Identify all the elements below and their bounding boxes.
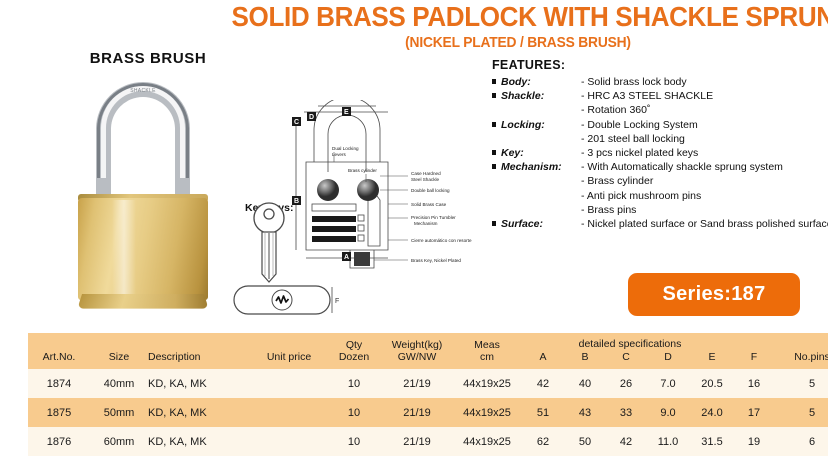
- feature-label: Mechanism:: [501, 160, 581, 174]
- series-badge: Series:187: [628, 273, 800, 316]
- feature-label: Locking:: [501, 118, 581, 132]
- keyway-bottom-view: F: [232, 283, 342, 317]
- bullet-icon: [492, 146, 501, 155]
- callout-brass-cylinder: Brass cylinder: [348, 168, 377, 173]
- header-line-2: Art.No.: [43, 351, 76, 363]
- bullet-icon: [492, 103, 501, 107]
- feature-value: - 201 steel ball locking: [581, 132, 685, 146]
- feature-label: Surface:: [501, 217, 581, 231]
- bullet-icon: [492, 174, 501, 178]
- header-line-2: No.pins: [794, 351, 828, 363]
- table-column-header: Meascm: [452, 333, 522, 369]
- table-cell: 21/19: [382, 369, 452, 398]
- technical-cutaway-diagram: C B E D A Case Hardned Steel Shackle Dou…: [288, 100, 498, 280]
- header-line-2: GW/NW: [398, 351, 437, 363]
- table-column-header: Weight(kg)GW/NW: [382, 333, 452, 369]
- table-cell: 40mm: [90, 369, 148, 398]
- table-cell: 5: [774, 369, 828, 398]
- feature-label: Shackle:: [501, 89, 581, 103]
- table-cell: 40: [564, 369, 606, 398]
- page-subtitle: (NICKEL PLATED / BRASS BRUSH): [235, 34, 802, 52]
- feature-value: - Solid brass lock body: [581, 75, 687, 89]
- table-cell: 5: [774, 398, 828, 427]
- table-cell: 51: [522, 398, 564, 427]
- table-row: 187660mmKD, KA, MK1021/1944x19x256250421…: [28, 427, 828, 456]
- table-cell: [252, 427, 326, 456]
- header-line-2: F: [751, 351, 757, 363]
- table-cell: 33: [606, 398, 646, 427]
- feature-row: - Rotation 360˚: [492, 103, 828, 117]
- bullet-icon: [492, 217, 501, 226]
- table-cell: 44x19x25: [452, 427, 522, 456]
- table-cell: 42: [522, 369, 564, 398]
- table-cell: 1876: [28, 427, 90, 456]
- callout-dual-locking-2: Levers: [332, 152, 346, 157]
- shackle-brand-text: SHACKLE: [117, 88, 169, 94]
- table-column-header: QtyDozen: [326, 333, 382, 369]
- table-cell: 21/19: [382, 398, 452, 427]
- table-cell: 11.0: [646, 427, 690, 456]
- table-cell: [252, 369, 326, 398]
- callout-dual-locking: Dual Locking: [332, 146, 359, 151]
- detailed-specifications-group-header: detailed specifications: [524, 338, 736, 350]
- table-column-header: No.pins: [774, 333, 828, 369]
- page-title: SOLID BRASS PADLOCK WITH SHACKLE SPRUNG: [232, 2, 805, 32]
- table-column-header: Description: [148, 333, 252, 369]
- table-cell: 44x19x25: [452, 398, 522, 427]
- header-line-2: E: [708, 351, 715, 363]
- table-cell: 1874: [28, 369, 90, 398]
- header-line-2: D: [664, 351, 672, 363]
- feature-row: Surface:- Nickel plated surface or Sand …: [492, 217, 828, 231]
- table-cell: 17: [734, 398, 774, 427]
- bullet-icon: [492, 160, 501, 169]
- table-cell: 1875: [28, 398, 90, 427]
- table-cell: 50mm: [90, 398, 148, 427]
- table-cell: KD, KA, MK: [148, 369, 252, 398]
- feature-row: Locking:- Double Locking System: [492, 118, 828, 132]
- callout-pin-tumbler-2: Mechanism: [414, 221, 438, 226]
- svg-text:C: C: [294, 119, 299, 126]
- bullet-icon: [492, 89, 501, 98]
- header-line-2: cm: [480, 351, 494, 363]
- svg-text:D: D: [309, 114, 314, 121]
- features-panel: FEATURES: Body:- Solid brass lock bodySh…: [492, 58, 828, 231]
- callout-shackle-2: Steel Shackle: [411, 177, 440, 182]
- lock-body-bottom-edge: [77, 294, 208, 309]
- callout-cierre: Cierre automático con resorte: [411, 238, 472, 243]
- table-cell: 10: [326, 398, 382, 427]
- table-column-header: F: [734, 333, 774, 369]
- table-cell: 9.0: [646, 398, 690, 427]
- feature-row: Body:- Solid brass lock body: [492, 75, 828, 89]
- feature-value: - Anti pick mushroom pins: [581, 189, 701, 203]
- table-cell: 21/19: [382, 427, 452, 456]
- feature-value: - Rotation 360˚: [581, 103, 650, 117]
- feature-value: - Nickel plated surface or Sand brass po…: [581, 217, 828, 231]
- lock-body-sheen: [112, 200, 136, 298]
- header-line-2: B: [581, 351, 588, 363]
- feature-row: - Anti pick mushroom pins: [492, 189, 828, 203]
- svg-text:F: F: [335, 298, 339, 305]
- table-cell: [252, 398, 326, 427]
- table-cell: 62: [522, 427, 564, 456]
- callout-pin-tumbler: Precision Pin Tumbler: [411, 215, 456, 220]
- table-cell: 50: [564, 427, 606, 456]
- specifications-table: Art.No.SizeDescriptionUnit priceQtyDozen…: [28, 333, 828, 456]
- table-row: 187440mmKD, KA, MK1021/1944x19x254240267…: [28, 369, 828, 398]
- lock-body: [78, 198, 208, 300]
- features-title: FEATURES:: [492, 58, 828, 72]
- table-cell: 26: [606, 369, 646, 398]
- table-cell: 24.0: [690, 398, 734, 427]
- table-column-header: Size: [90, 333, 148, 369]
- feature-row: Key:- 3 pcs nickel plated keys: [492, 146, 828, 160]
- feature-row: - Brass pins: [492, 203, 828, 217]
- header-line-2: Size: [109, 351, 129, 363]
- header-line-2: C: [622, 351, 630, 363]
- bullet-icon: [492, 203, 501, 207]
- padlock-photo: SHACKLE: [72, 82, 212, 300]
- table-body: 187440mmKD, KA, MK1021/1944x19x254240267…: [28, 369, 828, 456]
- table-cell: 42: [606, 427, 646, 456]
- feature-value: - Brass cylinder: [581, 174, 653, 188]
- header-line-2: Dozen: [339, 351, 369, 363]
- table-column-header: Art.No.: [28, 333, 90, 369]
- table-cell: 31.5: [690, 427, 734, 456]
- table-cell: 10: [326, 427, 382, 456]
- table-cell: 20.5: [690, 369, 734, 398]
- bullet-icon: [492, 75, 501, 84]
- bullet-icon: [492, 118, 501, 127]
- table-row: 187550mmKD, KA, MK1021/1944x19x255143339…: [28, 398, 828, 427]
- features-list: Body:- Solid brass lock bodyShackle:- HR…: [492, 75, 828, 231]
- table-column-header: Unit price: [252, 333, 326, 369]
- table-cell: 60mm: [90, 427, 148, 456]
- title-block: SOLID BRASS PADLOCK WITH SHACKLE SPRUNG …: [210, 2, 826, 52]
- feature-value: - HRC A3 STEEL SHACKLE: [581, 89, 713, 103]
- feature-row: Shackle:- HRC A3 STEEL SHACKLE: [492, 89, 828, 103]
- table-cell: KD, KA, MK: [148, 398, 252, 427]
- bullet-icon: [492, 189, 501, 193]
- feature-label: Body:: [501, 75, 581, 89]
- feature-value: - Double Locking System: [581, 118, 698, 132]
- bullet-icon: [492, 132, 501, 136]
- table-cell: 7.0: [646, 369, 690, 398]
- header-line-2: Description: [148, 351, 201, 363]
- header-line-2: A: [539, 351, 546, 363]
- feature-row: Mechanism:- With Automatically shackle s…: [492, 160, 828, 174]
- header-line-1: Unit price: [252, 352, 326, 364]
- table-cell: 19: [734, 427, 774, 456]
- product-spec-sheet: SOLID BRASS PADLOCK WITH SHACKLE SPRUNG …: [0, 0, 828, 470]
- svg-text:A: A: [344, 254, 349, 261]
- table-cell: 16: [734, 369, 774, 398]
- feature-label: Key:: [501, 146, 581, 160]
- table-cell: 44x19x25: [452, 369, 522, 398]
- table-cell: 10: [326, 369, 382, 398]
- callout-brass-case: Solid Brass Case: [411, 202, 447, 207]
- shackle-highlight: [101, 86, 185, 210]
- callout-shackle: Case Hardned: [411, 171, 441, 176]
- svg-text:B: B: [294, 198, 299, 205]
- feature-row: - Brass cylinder: [492, 174, 828, 188]
- feature-value: - With Automatically shackle sprung syst…: [581, 160, 783, 174]
- feature-row: - 201 steel ball locking: [492, 132, 828, 146]
- table-cell: KD, KA, MK: [148, 427, 252, 456]
- callout-ball-locking: Double ball locking: [411, 188, 450, 193]
- svg-text:E: E: [344, 109, 349, 116]
- feature-value: - 3 pcs nickel plated keys: [581, 146, 698, 160]
- table-cell: 6: [774, 427, 828, 456]
- feature-value: - Brass pins: [581, 203, 636, 217]
- product-photo-caption: BRASS BRUSH: [48, 50, 248, 67]
- callout-brass-key: Brass Key, Nickel Plated: [411, 258, 461, 263]
- table-cell: 43: [564, 398, 606, 427]
